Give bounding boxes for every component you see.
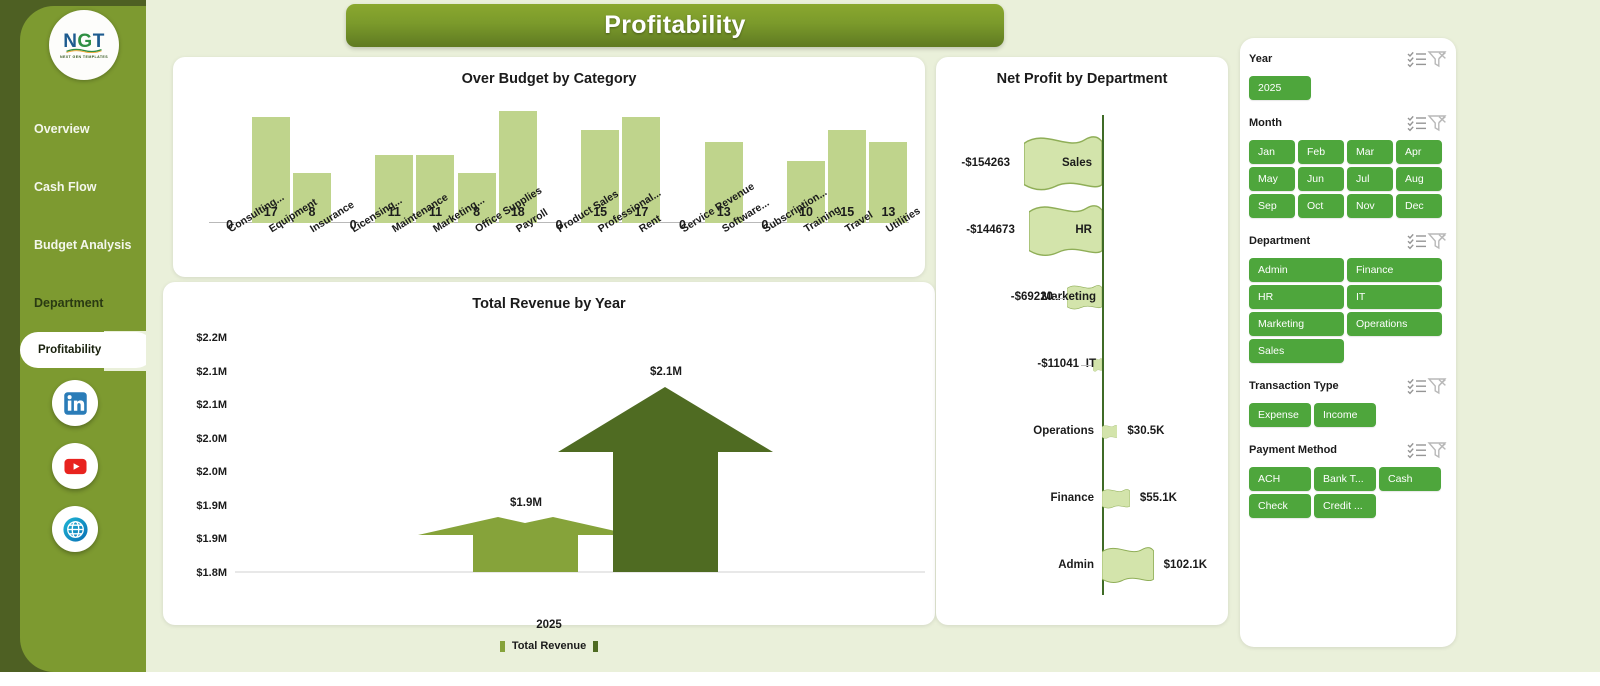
filter-chip[interactable]: Feb bbox=[1298, 140, 1344, 164]
net-profit-flag bbox=[1102, 425, 1117, 439]
filter-chip-list: JanFebMarAprMayJunJulAugSepOctNovDec bbox=[1249, 140, 1447, 218]
filter-group-title: Payment Method bbox=[1249, 444, 1407, 456]
revenue-y-axis-tick: $1.8M bbox=[171, 567, 227, 579]
filter-group-header: Department bbox=[1249, 230, 1447, 252]
filter-chip[interactable]: Bank T... bbox=[1314, 467, 1376, 491]
filter-chip[interactable]: Dec bbox=[1396, 194, 1442, 218]
filter-chip-list: ExpenseIncome bbox=[1249, 403, 1447, 427]
clear-filter-icon[interactable] bbox=[1427, 114, 1447, 132]
net-profit-value-label: $55.1K bbox=[1140, 492, 1177, 504]
legend-label: Total Revenue bbox=[512, 640, 586, 652]
sidebar-item-label: Department bbox=[34, 296, 103, 310]
revenue-y-axis-tick: $1.9M bbox=[171, 500, 227, 512]
website-icon[interactable] bbox=[52, 506, 98, 552]
filter-group-title: Year bbox=[1249, 53, 1407, 65]
filter-group-year: Year2025 bbox=[1249, 48, 1447, 100]
filter-chip[interactable]: Sales bbox=[1249, 339, 1344, 363]
brand-logo: NGT NEXT GEN TEMPLATES bbox=[49, 10, 119, 80]
net-profit-chart-card: Net Profit by Department Sales-$154263HR… bbox=[936, 57, 1228, 625]
over-budget-bar[interactable]: 0 bbox=[664, 105, 702, 223]
dashboard-root: NGT NEXT GEN TEMPLATES Overview Cash Flo… bbox=[0, 0, 1600, 686]
filter-chip[interactable]: Finance bbox=[1347, 258, 1442, 282]
clear-filter-icon[interactable] bbox=[1427, 50, 1447, 68]
revenue-y-axis-tick: $2.2M bbox=[171, 332, 227, 344]
total-revenue-chart-title: Total Revenue by Year bbox=[163, 296, 935, 312]
total-revenue-plot-area: $1.9M $2.1M 2025 Total Revenue $2.2M$2.1… bbox=[163, 322, 935, 572]
net-profit-value-label: -$154263 bbox=[961, 157, 1010, 169]
social-links bbox=[52, 380, 98, 569]
dashboard-canvas: Profitability Over Budget by Category 01… bbox=[146, 0, 1600, 672]
over-budget-chart-title: Over Budget by Category bbox=[173, 71, 925, 87]
page-title: Profitability bbox=[346, 4, 1004, 47]
net-profit-row[interactable]: HR-$144673 bbox=[936, 198, 1228, 264]
filter-chip[interactable]: HR bbox=[1249, 285, 1344, 309]
filter-chip[interactable]: Check bbox=[1249, 494, 1311, 518]
filter-chip-list: 2025 bbox=[1249, 76, 1447, 100]
revenue-y-axis-tick: $2.1M bbox=[171, 399, 227, 411]
filter-chip[interactable]: Apr bbox=[1396, 140, 1442, 164]
filter-chip[interactable]: Sep bbox=[1249, 194, 1295, 218]
net-profit-value-label: $102.1K bbox=[1164, 559, 1207, 571]
sidebar-item-label: Profitability bbox=[38, 344, 101, 356]
select-all-icon[interactable] bbox=[1407, 441, 1427, 459]
total-revenue-arrow-2025[interactable] bbox=[558, 387, 773, 572]
filter-group-header: Transaction Type bbox=[1249, 375, 1447, 397]
filter-chip[interactable]: Expense bbox=[1249, 403, 1311, 427]
filter-chip[interactable]: Marketing bbox=[1249, 312, 1344, 336]
filter-group-payment-method: Payment MethodACHBank T...CashCheckCredi… bbox=[1249, 439, 1447, 518]
sidebar-item-profitability[interactable]: Profitability bbox=[20, 332, 154, 368]
youtube-icon[interactable] bbox=[52, 443, 98, 489]
filter-chip[interactable]: Aug bbox=[1396, 167, 1442, 191]
over-budget-category-labels: Consulting...EquipmentInsuranceLicensing… bbox=[209, 225, 909, 285]
net-profit-value-label: $30.5K bbox=[1127, 425, 1164, 437]
over-budget-chart-card: Over Budget by Category 0178011118180151… bbox=[173, 57, 925, 277]
total-revenue-legend: Total Revenue bbox=[163, 640, 935, 652]
sidebar-item-cash-flow[interactable]: Cash Flow bbox=[20, 158, 146, 216]
over-budget-bar[interactable]: 0 bbox=[211, 105, 249, 223]
net-profit-category-label: Admin bbox=[1058, 559, 1094, 571]
sidebar-nav: Overview Cash Flow Budget Analysis Depar… bbox=[20, 100, 146, 368]
filter-chip[interactable]: Nov bbox=[1347, 194, 1393, 218]
sidebar-item-budget-analysis[interactable]: Budget Analysis bbox=[20, 216, 146, 274]
net-profit-value-label: -$69220 bbox=[1011, 291, 1053, 303]
sidebar-item-overview[interactable]: Overview bbox=[20, 100, 146, 158]
net-profit-value-label: -$11041 bbox=[1037, 358, 1079, 370]
total-revenue-data-label-2: $2.1M bbox=[576, 366, 756, 378]
filter-panel: Year2025MonthJanFebMarAprMayJunJulAugSep… bbox=[1240, 38, 1456, 647]
filter-group-title: Department bbox=[1249, 235, 1407, 247]
filter-chip[interactable]: Credit ... bbox=[1314, 494, 1376, 518]
net-profit-plot-area: Sales-$154263HR-$144673Marketing-$69220I… bbox=[936, 103, 1228, 615]
filter-chip[interactable]: 2025 bbox=[1249, 76, 1311, 100]
filter-chip[interactable]: Oct bbox=[1298, 194, 1344, 218]
total-revenue-chart-card: Total Revenue by Year $1.9M $2.1M 2025 T… bbox=[163, 282, 935, 625]
clear-filter-icon[interactable] bbox=[1427, 441, 1447, 459]
filter-chip[interactable]: IT bbox=[1347, 285, 1442, 309]
filter-group-header: Payment Method bbox=[1249, 439, 1447, 461]
linkedin-icon[interactable] bbox=[52, 380, 98, 426]
total-revenue-x-axis-label: 2025 bbox=[163, 619, 935, 631]
net-profit-leader-line bbox=[1055, 298, 1065, 299]
net-profit-row[interactable]: Sales-$154263 bbox=[936, 131, 1228, 197]
filter-group-department: DepartmentAdminFinanceHRITMarketingOpera… bbox=[1249, 230, 1447, 363]
sidebar-item-department[interactable]: Department bbox=[20, 274, 146, 332]
revenue-y-axis-tick: $2.0M bbox=[171, 433, 227, 445]
sidebar-item-label: Overview bbox=[34, 122, 90, 136]
net-profit-chart-title: Net Profit by Department bbox=[936, 71, 1228, 87]
net-profit-row[interactable]: Finance$55.1K bbox=[936, 466, 1228, 532]
filter-group-title: Transaction Type bbox=[1249, 380, 1407, 392]
clear-filter-icon[interactable] bbox=[1427, 377, 1447, 395]
legend-swatch-dark bbox=[593, 641, 598, 652]
filter-chip-list: AdminFinanceHRITMarketingOperationsSales bbox=[1249, 258, 1447, 363]
net-profit-row[interactable]: IT-$11041 bbox=[936, 332, 1228, 398]
net-profit-row[interactable]: Operations$30.5K bbox=[936, 399, 1228, 465]
select-all-icon[interactable] bbox=[1407, 377, 1427, 395]
filter-chip[interactable]: Operations bbox=[1347, 312, 1442, 336]
filter-chip[interactable]: May bbox=[1249, 167, 1295, 191]
filter-group-header: Year bbox=[1249, 48, 1447, 70]
filter-chip[interactable]: Mar bbox=[1347, 140, 1393, 164]
page-title-label: Profitability bbox=[604, 11, 745, 40]
net-profit-value-label: -$144673 bbox=[966, 224, 1015, 236]
filter-chip[interactable]: Income bbox=[1314, 403, 1376, 427]
filter-group-month: MonthJanFebMarAprMayJunJulAugSepOctNovDe… bbox=[1249, 112, 1447, 218]
net-profit-row[interactable]: Marketing-$69220 bbox=[936, 265, 1228, 331]
filter-group-title: Month bbox=[1249, 117, 1407, 129]
filter-chip[interactable]: Cash bbox=[1379, 467, 1441, 491]
revenue-y-axis-tick: $2.1M bbox=[171, 366, 227, 378]
filter-chip[interactable]: Jul bbox=[1347, 167, 1393, 191]
filter-chip[interactable]: Jun bbox=[1298, 167, 1344, 191]
net-profit-category-label: HR bbox=[1075, 224, 1092, 236]
net-profit-flag bbox=[1102, 547, 1154, 584]
over-budget-bar[interactable]: 0 bbox=[540, 105, 578, 223]
sidebar-item-label: Cash Flow bbox=[34, 180, 97, 194]
total-revenue-data-label-1: $1.9M bbox=[436, 497, 616, 509]
net-profit-category-label: Sales bbox=[1062, 157, 1092, 169]
logo-swoosh-icon bbox=[62, 48, 106, 53]
sidebar-item-label: Budget Analysis bbox=[34, 238, 131, 252]
net-profit-category-label: Finance bbox=[1051, 492, 1094, 504]
select-all-icon[interactable] bbox=[1407, 114, 1427, 132]
net-profit-row[interactable]: Admin$102.1K bbox=[936, 533, 1228, 599]
filter-group-transaction-type: Transaction TypeExpenseIncome bbox=[1249, 375, 1447, 427]
filter-chip[interactable]: ACH bbox=[1249, 467, 1311, 491]
select-all-icon[interactable] bbox=[1407, 232, 1427, 250]
filter-chip-list: ACHBank T...CashCheckCredit ... bbox=[1249, 467, 1447, 518]
filter-group-header: Month bbox=[1249, 112, 1447, 134]
net-profit-flag bbox=[1102, 489, 1130, 509]
legend-swatch-light bbox=[500, 641, 505, 652]
select-all-icon[interactable] bbox=[1407, 50, 1427, 68]
filter-chip[interactable]: Jan bbox=[1249, 140, 1295, 164]
clear-filter-icon[interactable] bbox=[1427, 232, 1447, 250]
logo-subtitle: NEXT GEN TEMPLATES bbox=[60, 55, 108, 59]
net-profit-category-label: IT bbox=[1086, 358, 1096, 370]
net-profit-category-label: Operations bbox=[1033, 425, 1094, 437]
revenue-y-axis-tick: $1.9M bbox=[171, 533, 227, 545]
net-profit-leader-line bbox=[1081, 365, 1091, 366]
over-budget-bar[interactable]: 13 bbox=[869, 105, 907, 223]
bar-rect: 13 bbox=[869, 142, 907, 223]
filter-chip[interactable]: Admin bbox=[1249, 258, 1344, 282]
revenue-y-axis-tick: $2.0M bbox=[171, 466, 227, 478]
